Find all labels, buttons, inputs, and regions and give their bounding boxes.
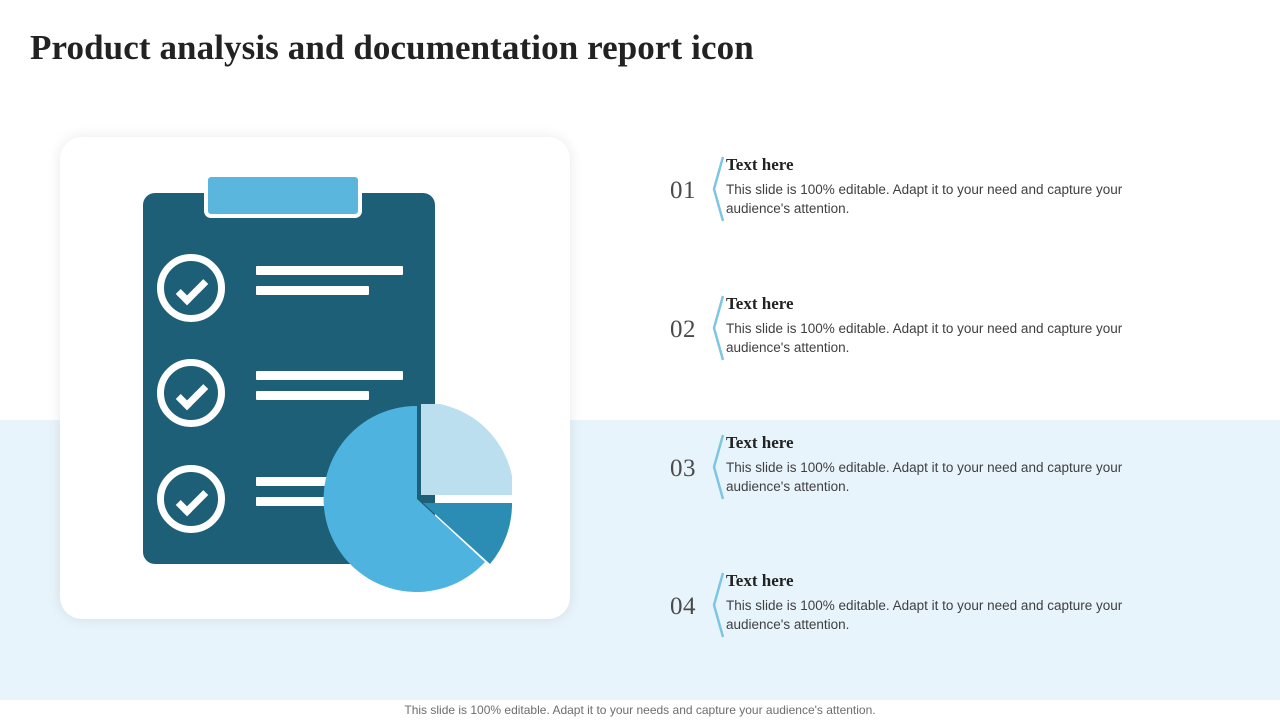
- checklist-line-short: [256, 286, 369, 295]
- checkmark-circle-icon: [157, 465, 225, 533]
- list-item-body: This slide is 100% editable. Adapt it to…: [726, 597, 1162, 634]
- pie-chart-icon: [322, 404, 512, 594]
- list-item-number: 01: [670, 177, 696, 205]
- pie-slice-light: [421, 404, 512, 495]
- checkmark-glyph-icon: [176, 378, 209, 411]
- checklist-line-long: [256, 371, 403, 380]
- bracket-icon: [712, 295, 724, 361]
- clipboard-clip-icon: [204, 173, 362, 218]
- list-item-heading: Text here: [726, 294, 794, 314]
- list-item-number: 04: [670, 593, 696, 621]
- pie-chart-svg: [322, 404, 512, 594]
- slide-canvas: Product analysis and documentation repor…: [0, 0, 1280, 720]
- checklist-line-short: [256, 391, 369, 400]
- list-item-number: 03: [670, 455, 696, 483]
- list-item[interactable]: 01 Text here This slide is 100% editable…: [670, 155, 1170, 235]
- list-item-heading: Text here: [726, 433, 794, 453]
- list-item-body: This slide is 100% editable. Adapt it to…: [726, 459, 1162, 496]
- checkmark-glyph-icon: [176, 273, 209, 306]
- list-item-body: This slide is 100% editable. Adapt it to…: [726, 320, 1162, 357]
- checkmark-circle-icon: [157, 359, 225, 427]
- list-item[interactable]: 02 Text here This slide is 100% editable…: [670, 294, 1170, 374]
- list-item[interactable]: 04 Text here This slide is 100% editable…: [670, 571, 1170, 651]
- bracket-icon: [712, 572, 724, 638]
- bracket-icon: [712, 156, 724, 222]
- checkmark-glyph-icon: [176, 484, 209, 517]
- checkmark-circle-icon: [157, 254, 225, 322]
- list-item-body: This slide is 100% editable. Adapt it to…: [726, 181, 1162, 218]
- slide-footer-note: This slide is 100% editable. Adapt it to…: [0, 703, 1280, 717]
- list-item[interactable]: 03 Text here This slide is 100% editable…: [670, 433, 1170, 513]
- list-item-heading: Text here: [726, 571, 794, 591]
- list-item-heading: Text here: [726, 155, 794, 175]
- list-item-number: 02: [670, 316, 696, 344]
- page-title: Product analysis and documentation repor…: [30, 28, 754, 68]
- bracket-icon: [712, 434, 724, 500]
- checklist-line-long: [256, 266, 403, 275]
